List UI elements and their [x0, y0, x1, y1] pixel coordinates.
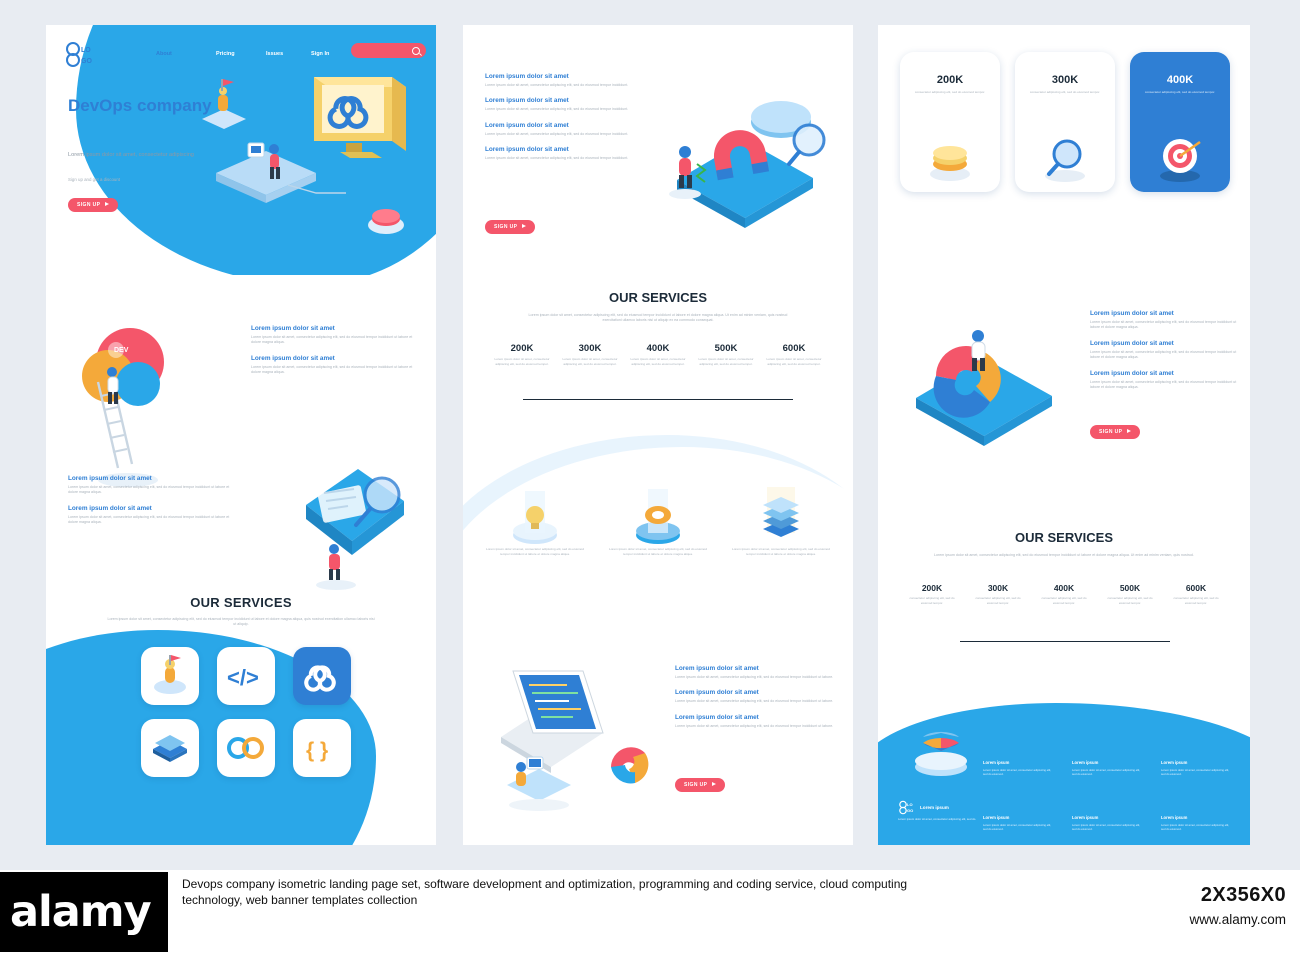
p2-body-2: Lorem ipsum dolor sit amet, consectetur …	[485, 107, 635, 112]
top-text-blocks-2: Lorem ipsum dolor sit amet Lorem ipsum d…	[485, 73, 635, 171]
nav-item-issues[interactable]: Issues	[266, 51, 283, 57]
card-number: 400K	[1130, 74, 1230, 86]
p2-body-4: Lorem ipsum dolor sit amet, consectetur …	[485, 156, 635, 161]
p2-body-1: Lorem ipsum dolor sit amet, consectetur …	[485, 83, 635, 88]
feature-text: Lorem ipsum dolor sit amet, consectetur …	[729, 547, 833, 557]
page-subtitle-2: Sign up and get a discount	[68, 177, 218, 182]
p3-title-3: Lorem ipsum dolor sit amet	[1090, 370, 1238, 377]
stat-text: consectetur adipiscing elit, sed do eius…	[904, 596, 960, 605]
laptop-illustration	[483, 645, 678, 825]
image-id: 2X356X0	[1201, 884, 1286, 907]
lightbulb-icon	[483, 485, 587, 547]
stat-item: 500K Lorem ipsum dolor sit amet, consect…	[697, 343, 755, 366]
stat-number: 400K	[1036, 583, 1092, 593]
feature-item: Lorem ipsum dolor sit amet, consectetur …	[729, 485, 833, 557]
footer-brand-body: Lorem ipsum dolor sit amet, consectetur …	[898, 817, 978, 821]
mid-text-blocks: Lorem ipsum dolor sit amet Lorem ipsum d…	[251, 325, 416, 385]
signup-label: SIGN UP	[77, 202, 100, 208]
stat-number: 300K	[970, 583, 1026, 593]
stats-row-2: 200K Lorem ipsum dolor sit amet, consect…	[493, 343, 823, 366]
signup-label-3: SIGN UP	[1099, 429, 1122, 435]
stat-number: 500K	[697, 343, 755, 354]
rocket-icon	[141, 647, 199, 705]
footer-column-title: Lorem ipsum	[1161, 760, 1233, 765]
p3-body-1: Lorem ipsum dolor sit amet, consectetur …	[1090, 320, 1238, 331]
stat-text: consectetur adipiscing elit, sed do eius…	[1036, 596, 1092, 605]
stat-item: 600K Lorem ipsum dolor sit amet, consect…	[765, 343, 823, 366]
stat-text: Lorem ipsum dolor sit amet, consectetur …	[697, 357, 755, 366]
footer-columns-row-1: Lorem ipsum Lorem ipsum dolor sit amet, …	[983, 760, 1233, 777]
arrow-right-icon	[105, 202, 109, 206]
services-title-3: OUR SERVICES	[878, 530, 1250, 545]
nav-item-signin[interactable]: Sign In	[311, 51, 329, 57]
signup-button-2b[interactable]: SIGN UP	[675, 773, 725, 792]
hero-section-1: LO GO About Pricing Issues Sign In DevOp…	[46, 25, 436, 275]
coins-icon	[900, 134, 1000, 184]
footer-column-body: Lorem ipsum dolor sit amet, consectetur …	[1161, 768, 1233, 777]
stat-text: Lorem ipsum dolor sit amet, consectetur …	[561, 357, 619, 366]
low-text-blocks: Lorem ipsum dolor sit amet Lorem ipsum d…	[68, 475, 233, 535]
stat-item: 500K consectetur adipiscing elit, sed do…	[1102, 583, 1158, 605]
card-text: consectetur adipiscing elit, sed do eius…	[914, 90, 986, 95]
arrow-right-icon	[522, 224, 526, 228]
p2-lap-body-3: Lorem ipsum dolor sit amet, consectetur …	[675, 724, 835, 729]
pricing-card-400k[interactable]: 400K consectetur adipiscing elit, sed do…	[1130, 52, 1230, 192]
nav-item-about[interactable]: About	[156, 51, 172, 57]
code-brackets-icon: </>	[217, 647, 275, 705]
landing-page-2: Lorem ipsum dolor sit amet Lorem ipsum d…	[463, 25, 853, 845]
footer-column-title: Lorem ipsum	[1161, 815, 1233, 820]
p2-title-4: Lorem ipsum dolor sit amet	[485, 146, 635, 153]
stat-item: 300K Lorem ipsum dolor sit amet, consect…	[561, 343, 619, 366]
balloon-illustration: DEV	[60, 310, 230, 500]
p2-body-3: Lorem ipsum dolor sit amet, consectetur …	[485, 132, 635, 137]
stat-text: consectetur adipiscing elit, sed do eius…	[970, 596, 1026, 605]
signup-button-3[interactable]: SIGN UP	[1090, 420, 1140, 439]
stat-text: Lorem ipsum dolor sit amet, consectetur …	[629, 357, 687, 366]
hero-illustration	[196, 53, 436, 253]
footer-brand: Lorem ipsum	[920, 805, 949, 810]
footer-column-title: Lorem ipsum	[983, 760, 1055, 765]
p2-title-3: Lorem ipsum dolor sit amet	[485, 122, 635, 129]
stat-item: 400K Lorem ipsum dolor sit amet, consect…	[629, 343, 687, 366]
alamy-wordmark: alamy	[10, 887, 151, 937]
footer-column-title: Lorem ipsum	[983, 815, 1055, 820]
pricing-card-200k[interactable]: 200K consectetur adipiscing elit, sed do…	[900, 52, 1000, 192]
feature-item: Lorem ipsum dolor sit amet, consectetur …	[483, 485, 587, 557]
mid-block-body-1: Lorem ipsum dolor sit amet, consectetur …	[251, 335, 416, 346]
stat-item: 400K consectetur adipiscing elit, sed do…	[1036, 583, 1092, 605]
nav-item-pricing[interactable]: Pricing	[216, 51, 235, 57]
pricing-card-300k[interactable]: 300K consectetur adipiscing elit, sed do…	[1015, 52, 1115, 192]
database-layers-icon	[141, 719, 199, 777]
footer-column-title: Lorem ipsum	[1072, 815, 1144, 820]
service-card-infinity[interactable]	[293, 647, 351, 705]
feature-text: Lorem ipsum dolor sit amet, consectetur …	[483, 547, 587, 557]
card-number: 200K	[900, 74, 1000, 86]
divider-3	[960, 641, 1170, 642]
pricing-cards: 200K consectetur adipiscing elit, sed do…	[900, 52, 1230, 192]
svg-text:LO: LO	[907, 802, 913, 807]
card-number: 300K	[1015, 74, 1115, 86]
signup-button-2[interactable]: SIGN UP	[485, 215, 535, 234]
phone-search-illustration	[286, 445, 436, 605]
service-card-braces[interactable]: { }	[293, 719, 351, 777]
features-row-2: Lorem ipsum dolor sit amet, consectetur …	[483, 485, 833, 557]
footer-column-body: Lorem ipsum dolor sit amet, consectetur …	[1072, 823, 1144, 832]
footer-column-body: Lorem ipsum dolor sit amet, consectetur …	[983, 823, 1055, 832]
footer-column: Lorem ipsum Lorem ipsum dolor sit amet, …	[983, 760, 1055, 777]
stat-text: Lorem ipsum dolor sit amet, consectetur …	[765, 357, 823, 366]
stat-text: Lorem ipsum dolor sit amet, consectetur …	[493, 357, 551, 366]
footer-column: Lorem ipsum Lorem ipsum dolor sit amet, …	[1161, 815, 1233, 832]
p3-body-2: Lorem ipsum dolor sit amet, consectetur …	[1090, 350, 1238, 361]
server-stack-icon	[729, 485, 833, 547]
footer-column-body: Lorem ipsum dolor sit amet, consectetur …	[1161, 823, 1233, 832]
p2-lap-title-2: Lorem ipsum dolor sit amet	[675, 689, 835, 696]
footer-column-body: Lorem ipsum dolor sit amet, consectetur …	[983, 768, 1055, 777]
target-icon	[1130, 132, 1230, 184]
stat-number: 400K	[629, 343, 687, 354]
stat-item: 200K consectetur adipiscing elit, sed do…	[904, 583, 960, 605]
stat-text: consectetur adipiscing elit, sed do eius…	[1102, 596, 1158, 605]
stat-item: 200K Lorem ipsum dolor sit amet, consect…	[493, 343, 551, 366]
puzzle-illustration	[892, 280, 1082, 450]
search-icon	[412, 47, 420, 55]
p3-title-2: Lorem ipsum dolor sit amet	[1090, 340, 1238, 347]
page-title: DevOps company	[68, 95, 228, 116]
svg-text:GO: GO	[81, 58, 92, 65]
service-card-code[interactable]: </>	[217, 647, 275, 705]
footer-column-body: Lorem ipsum dolor sit amet, consectetur …	[1072, 768, 1144, 777]
footer-column: Lorem ipsum Lorem ipsum dolor sit amet, …	[1072, 760, 1144, 777]
logo[interactable]: LO GO	[64, 41, 96, 69]
services-title-2: OUR SERVICES	[463, 290, 853, 305]
arrow-right-icon	[712, 782, 716, 786]
feature-text: Lorem ipsum dolor sit amet, consectetur …	[606, 547, 710, 557]
low-block-title-2: Lorem ipsum dolor sit amet	[68, 505, 233, 512]
alamy-logo: alamy	[0, 872, 168, 952]
card-text: consectetur adipiscing elit, sed do eius…	[1029, 90, 1101, 95]
p2-lap-body-1: Lorem ipsum dolor sit amet, consectetur …	[675, 675, 835, 680]
laptop-text-blocks: Lorem ipsum dolor sit amet Lorem ipsum d…	[675, 665, 835, 738]
p2-title-1: Lorem ipsum dolor sit amet	[485, 73, 635, 80]
svg-text:LO: LO	[81, 47, 91, 54]
footer-column-title: Lorem ipsum	[1072, 760, 1144, 765]
svg-text:{ }: { }	[306, 739, 328, 762]
services-subtitle-2: Lorem ipsum dolor sit amet, consectetur …	[523, 313, 793, 324]
svg-text:DEV: DEV	[114, 347, 129, 354]
magnifier-icon	[1015, 134, 1115, 184]
divider-2	[523, 399, 793, 400]
logo-icon: LO GO	[898, 800, 915, 815]
search-input[interactable]	[351, 43, 426, 58]
services-subtitle-3: Lorem ipsum dolor sit amet, consectetur …	[928, 553, 1200, 558]
card-text: consectetur adipiscing elit, sed do eius…	[1144, 90, 1216, 95]
feature-item: Lorem ipsum dolor sit amet, consectetur …	[606, 485, 710, 557]
svg-text:</>: </>	[227, 665, 259, 690]
page-subtitle: Lorem ipsum dolor sit amet, consectetur …	[68, 151, 218, 159]
service-card-database[interactable]	[141, 719, 199, 777]
stat-item: 600K consectetur adipiscing elit, sed do…	[1168, 583, 1224, 605]
footer-columns-row-2: Lorem ipsum Lorem ipsum dolor sit amet, …	[983, 815, 1233, 832]
stats-row-3: 200K consectetur adipiscing elit, sed do…	[904, 583, 1224, 605]
mid-block-title-1: Lorem ipsum dolor sit amet	[251, 325, 416, 332]
stat-number: 200K	[904, 583, 960, 593]
signup-label-2: SIGN UP	[494, 224, 517, 230]
stat-number: 200K	[493, 343, 551, 354]
footer-column: Lorem ipsum Lorem ipsum dolor sit amet, …	[983, 815, 1055, 832]
p2-lap-title-1: Lorem ipsum dolor sit amet	[675, 665, 835, 672]
low-block-body-1: Lorem ipsum dolor sit amet, consectetur …	[68, 485, 233, 496]
services-title-1: OUR SERVICES	[46, 595, 436, 610]
magnet-illustration	[653, 70, 843, 250]
landing-page-3: 200K consectetur adipiscing elit, sed do…	[878, 25, 1250, 845]
curly-braces-icon: { }	[293, 719, 351, 777]
poster-stage: LO GO About Pricing Issues Sign In DevOp…	[0, 0, 1300, 870]
gear-circles-icon	[217, 719, 275, 777]
landing-page-1: LO GO About Pricing Issues Sign In DevOp…	[46, 25, 436, 845]
alamy-url: www.alamy.com	[1189, 912, 1286, 927]
p2-lap-title-3: Lorem ipsum dolor sit amet	[675, 714, 835, 721]
infinity-icon	[293, 647, 351, 705]
svg-text:GO: GO	[907, 808, 913, 813]
stat-number: 600K	[1168, 583, 1224, 593]
top-navigation: About Pricing Issues Sign In	[156, 47, 426, 69]
p2-lap-body-2: Lorem ipsum dolor sit amet, consectetur …	[675, 699, 835, 704]
mid-block-body-2: Lorem ipsum dolor sit amet, consectetur …	[251, 365, 416, 376]
service-card-rocket[interactable]	[141, 647, 199, 705]
footer-column: Lorem ipsum Lorem ipsum dolor sit amet, …	[1161, 760, 1233, 777]
footer-logo-block[interactable]: LO GO Lorem ipsum	[898, 800, 949, 815]
stat-item: 300K consectetur adipiscing elit, sed do…	[970, 583, 1026, 605]
stat-number: 600K	[765, 343, 823, 354]
signup-label-2b: SIGN UP	[684, 782, 707, 788]
mid-block-title-2: Lorem ipsum dolor sit amet	[251, 355, 416, 362]
pie-chart-illustration	[896, 715, 986, 785]
stat-text: consectetur adipiscing elit, sed do eius…	[1168, 596, 1224, 605]
lifebuoy-icon	[606, 485, 710, 547]
p2-title-2: Lorem ipsum dolor sit amet	[485, 97, 635, 104]
stat-number: 500K	[1102, 583, 1158, 593]
arrow-right-icon	[1127, 429, 1131, 433]
service-card-gears[interactable]	[217, 719, 275, 777]
p3-text-blocks: Lorem ipsum dolor sit amet Lorem ipsum d…	[1090, 310, 1238, 399]
p3-title-1: Lorem ipsum dolor sit amet	[1090, 310, 1238, 317]
low-block-title-1: Lorem ipsum dolor sit amet	[68, 475, 233, 482]
signup-button-hero[interactable]: SIGN UP	[68, 193, 118, 212]
image-caption: Devops company isometric landing page se…	[182, 876, 942, 908]
p3-body-3: Lorem ipsum dolor sit amet, consectetur …	[1090, 380, 1238, 391]
footer-column: Lorem ipsum Lorem ipsum dolor sit amet, …	[1072, 815, 1144, 832]
services-subtitle-1: Lorem ipsum dolor sit amet, consectetur …	[106, 617, 376, 628]
low-block-body-2: Lorem ipsum dolor sit amet, consectetur …	[68, 515, 233, 526]
stat-number: 300K	[561, 343, 619, 354]
